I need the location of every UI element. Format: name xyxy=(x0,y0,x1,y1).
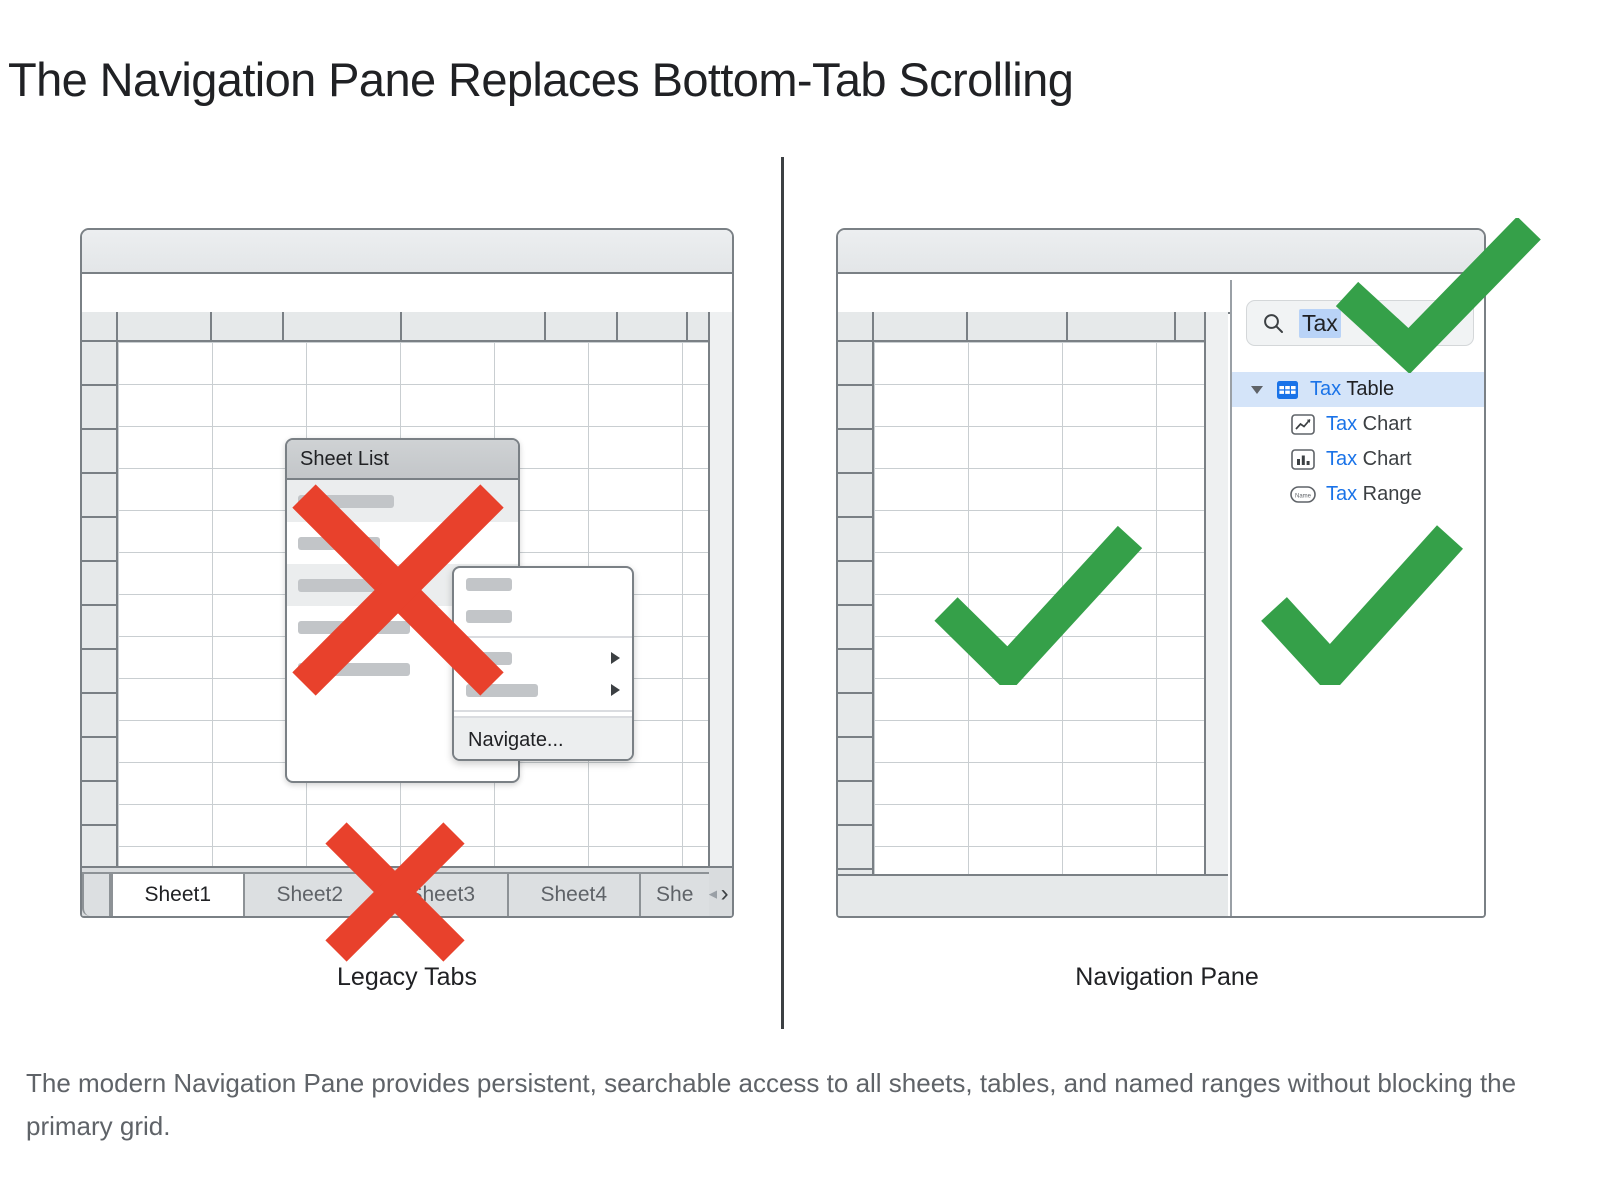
named-range-icon: Name xyxy=(1290,484,1316,506)
navigation-pane-panel: Tax xyxy=(836,228,1486,918)
row-headers[interactable] xyxy=(82,312,118,916)
tree-item-label: Tax Table xyxy=(1310,378,1394,401)
caption-legacy-tabs: Legacy Tabs xyxy=(0,963,814,992)
sheet-tab-label: She xyxy=(656,883,693,907)
vertical-scrollbar[interactable] xyxy=(708,312,732,916)
tree-item-tax-chart-line[interactable]: Tax Chart xyxy=(1232,407,1484,442)
disclosure-triangle-icon[interactable] xyxy=(1246,386,1268,394)
sheet-tab-label: Sheet3 xyxy=(408,883,475,907)
context-menu-item-submenu[interactable] xyxy=(454,674,632,706)
tree-item-keyword: Tax xyxy=(1326,448,1357,470)
tree-item-rest: Range xyxy=(1357,483,1422,505)
tree-item-label: Tax Chart xyxy=(1326,413,1412,436)
tree-item-tax-chart-bar[interactable]: Tax Chart xyxy=(1232,442,1484,477)
page-title: The Navigation Pane Replaces Bottom-Tab … xyxy=(8,52,1073,107)
caption-navigation-pane: Navigation Pane xyxy=(790,963,1544,992)
sheet-tab-label: Sheet2 xyxy=(276,883,343,907)
sheet-context-menu[interactable]: Navigate... xyxy=(452,566,634,761)
submenu-arrow-icon xyxy=(611,652,620,664)
column-headers[interactable] xyxy=(82,312,732,342)
tab-scroll-right-icon[interactable]: › xyxy=(717,872,732,916)
tree-item-rest: Chart xyxy=(1357,413,1411,435)
window-titlebar xyxy=(82,230,732,274)
table-icon xyxy=(1274,379,1300,401)
context-menu-item-submenu[interactable] xyxy=(454,642,632,674)
legacy-tabs-panel: Sheet1 Sheet2 Sheet3 Sheet4 She ◂ › Shee… xyxy=(80,228,734,918)
search-input-value: Tax xyxy=(1299,309,1341,338)
sheet-tab-label: Sheet1 xyxy=(144,883,211,907)
sheet-tab-2[interactable]: Sheet2 xyxy=(243,872,375,916)
tree-item-keyword: Tax xyxy=(1326,413,1357,435)
tree-item-label: Tax Range xyxy=(1326,483,1422,506)
column-headers[interactable] xyxy=(838,312,1228,342)
row-headers[interactable] xyxy=(838,312,874,916)
sheet-tab-strip[interactable]: Sheet1 Sheet2 Sheet3 Sheet4 She ◂ › xyxy=(82,866,732,916)
spreadsheet-window-modern: Tax xyxy=(836,228,1486,918)
tab-navigation-buttons[interactable] xyxy=(82,872,111,916)
sheet-tab-label: Sheet4 xyxy=(540,883,607,907)
footer-description: The modern Navigation Pane provides pers… xyxy=(26,1062,1526,1148)
line-chart-icon xyxy=(1290,414,1316,436)
status-bar xyxy=(838,874,1228,916)
navigation-pane[interactable]: Tax xyxy=(1230,280,1484,918)
tree-item-tax-table[interactable]: Tax Table xyxy=(1232,372,1484,407)
sheet-tab-4[interactable]: Sheet4 xyxy=(507,872,639,916)
tree-item-tax-range[interactable]: Name Tax Range xyxy=(1232,477,1484,512)
grid-cells[interactable] xyxy=(874,342,1228,916)
sheet-tab-1[interactable]: Sheet1 xyxy=(111,872,243,916)
submenu-arrow-icon xyxy=(611,684,620,696)
bar-chart-icon xyxy=(1290,449,1316,471)
tree-item-label: Tax Chart xyxy=(1326,448,1412,471)
sheet-tab-3[interactable]: Sheet3 xyxy=(375,872,507,916)
tree-item-keyword: Tax xyxy=(1310,378,1341,400)
vertical-scrollbar[interactable] xyxy=(1204,312,1228,916)
sheet-tab-5-clipped[interactable]: She xyxy=(639,872,709,916)
svg-text:Name: Name xyxy=(1295,494,1312,500)
panel-divider xyxy=(781,157,784,1029)
tab-scroll-left-icon[interactable]: ◂ xyxy=(709,872,718,916)
spreadsheet-window-legacy: Sheet1 Sheet2 Sheet3 Sheet4 She ◂ › Shee… xyxy=(80,228,734,918)
window-titlebar xyxy=(838,230,1484,274)
context-menu-separator xyxy=(454,636,632,638)
search-icon xyxy=(1261,311,1285,335)
search-input[interactable]: Tax xyxy=(1246,300,1474,346)
sheet-list-item[interactable] xyxy=(287,522,518,564)
context-menu-item[interactable] xyxy=(454,600,632,632)
sheet-list-title: Sheet List xyxy=(287,440,518,480)
context-menu-item[interactable] xyxy=(454,568,632,600)
tree-item-keyword: Tax xyxy=(1326,483,1357,505)
formula-bar[interactable] xyxy=(82,274,732,314)
navigation-tree[interactable]: Tax Table Tax Chart xyxy=(1232,372,1484,512)
context-menu-separator xyxy=(454,710,632,712)
sheet-list-item[interactable] xyxy=(287,480,518,522)
tree-item-rest: Chart xyxy=(1357,448,1411,470)
context-menu-navigate-item[interactable]: Navigate... xyxy=(454,716,632,761)
tree-item-rest: Table xyxy=(1341,378,1394,400)
grid-area[interactable] xyxy=(838,312,1228,916)
